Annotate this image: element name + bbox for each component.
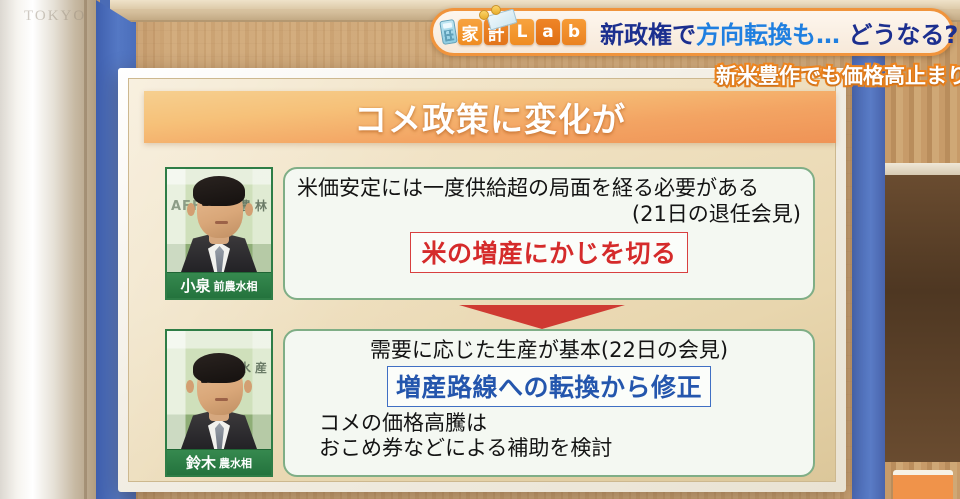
broadcast-screenshot: TOKYO コメ政策に変化が AFF 農 林 xyxy=(0,0,960,499)
calculator-icon xyxy=(439,19,458,45)
ear-right xyxy=(245,203,253,216)
headline-segment-2: 方向転換も… xyxy=(696,21,840,49)
quote-bubble-koizumi: 米価安定には一度供給超の局面を経る必要がある (21日の退任会見) 米の増産にか… xyxy=(283,167,815,300)
person-name: 鈴木 xyxy=(186,452,216,473)
person-title: 農水相 xyxy=(219,455,252,471)
mouth-shape xyxy=(215,398,228,401)
logo-tile-5: b xyxy=(562,19,586,45)
program-header-banner: 家 計 L a b 新政権で方向転換も… どうなる?コメ価格 xyxy=(430,8,954,56)
hair-shape xyxy=(193,353,245,383)
coin-icon-1 xyxy=(479,10,489,20)
quote-line: 米価安定には一度供給超の局面を経る必要がある xyxy=(297,176,801,202)
logo-tile-1: 家 xyxy=(458,19,482,45)
program-logo: 家 計 L a b xyxy=(441,19,592,45)
extra-line-2: おこめ券などによる補助を検討 xyxy=(297,436,801,462)
quote-line: 需要に応じた生産が基本(22日の会見) xyxy=(297,338,801,364)
highlight-box-blue: 増産路線への転換から修正 xyxy=(387,366,711,407)
coin-icon-2 xyxy=(491,5,501,15)
board-inner-surface: コメ政策に変化が AFF 農 林 xyxy=(128,78,836,482)
quote-bubble-suzuki: 需要に応じた生産が基本(22日の会見) 増産路線への転換から修正 コメの価格高騰… xyxy=(283,329,815,477)
left-wall-panel xyxy=(0,0,96,499)
presentation-board: コメ政策に変化が AFF 農 林 xyxy=(118,68,846,492)
photo-suzuki: 水 産 xyxy=(165,329,273,477)
highlight-box-red: 米の増産にかじを切る xyxy=(410,232,687,273)
ear-left xyxy=(186,380,194,393)
shelf-alcove xyxy=(885,175,960,465)
ear-left xyxy=(187,203,195,216)
logo-tile-4: a xyxy=(536,19,560,45)
headline-segment-1: 新政権で xyxy=(600,21,696,49)
photo-koizumi: AFF 農 林 xyxy=(165,167,273,300)
person-figure xyxy=(167,359,271,449)
nameplate-suzuki: 鈴木 農水相 xyxy=(167,449,271,475)
ear-right xyxy=(244,380,252,393)
board-title-bar: コメ政策に変化が xyxy=(144,91,836,143)
shelf-prop-orange xyxy=(893,470,953,499)
channel-watermark: TOKYO xyxy=(24,8,86,25)
quote-source: (21日の退任会見) xyxy=(297,202,801,228)
hair-shape xyxy=(193,176,245,206)
left-wall-seam xyxy=(84,0,87,499)
headline-segment-3: どうなる? xyxy=(840,21,958,49)
extra-line-1: コメの価格高騰は xyxy=(297,411,801,437)
headline-text: 新政権で方向転換も… どうなる?コメ価格 xyxy=(600,15,960,50)
statement-panel-koizumi: AFF 農 林 xyxy=(165,167,815,300)
down-arrow-icon xyxy=(459,305,625,329)
person-title: 前農水相 xyxy=(214,278,258,294)
page-title: コメ政策に変化が xyxy=(354,93,626,141)
person-figure xyxy=(167,182,271,272)
statement-panel-suzuki: 水 産 xyxy=(165,329,815,477)
subheadline-text: 新米豊作でも価格高止まり xyxy=(716,60,960,90)
person-name: 小泉 xyxy=(180,275,210,296)
mouth-shape xyxy=(215,221,228,224)
nameplate-koizumi: 小泉 前農水相 xyxy=(167,272,271,298)
